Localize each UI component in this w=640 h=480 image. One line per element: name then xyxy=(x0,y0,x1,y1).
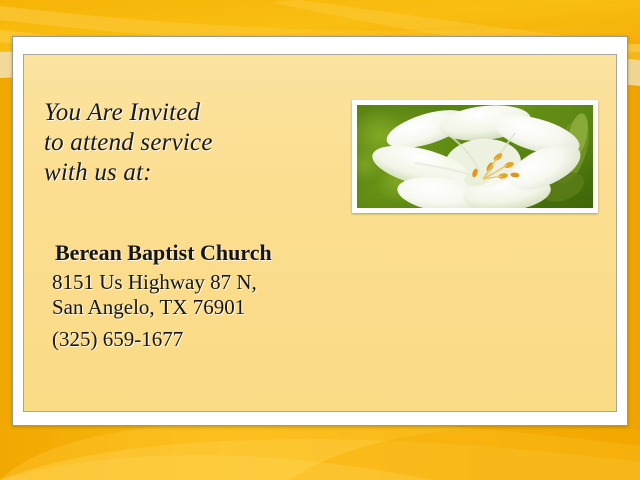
address-city-state-zip: San Angelo, TX 76901 xyxy=(52,295,257,320)
heading-line-2: to attend service xyxy=(44,128,334,158)
lily-flower-icon xyxy=(357,105,593,208)
invitation-slide: You Are Invited to attend service with u… xyxy=(0,0,640,480)
church-phone: (325) 659-1677 xyxy=(52,327,183,352)
lily-photo-frame xyxy=(352,100,598,213)
heading-line-1: You Are Invited xyxy=(44,98,334,128)
heading-line-3: with us at: xyxy=(44,158,334,188)
address-street: 8151 Us Highway 87 N, xyxy=(52,270,257,295)
invitation-heading: You Are Invited to attend service with u… xyxy=(44,98,334,188)
lily-flower-illustration xyxy=(357,105,593,208)
church-name: Berean Baptist Church xyxy=(55,240,272,266)
church-address: 8151 Us Highway 87 N, San Angelo, TX 769… xyxy=(52,270,257,320)
